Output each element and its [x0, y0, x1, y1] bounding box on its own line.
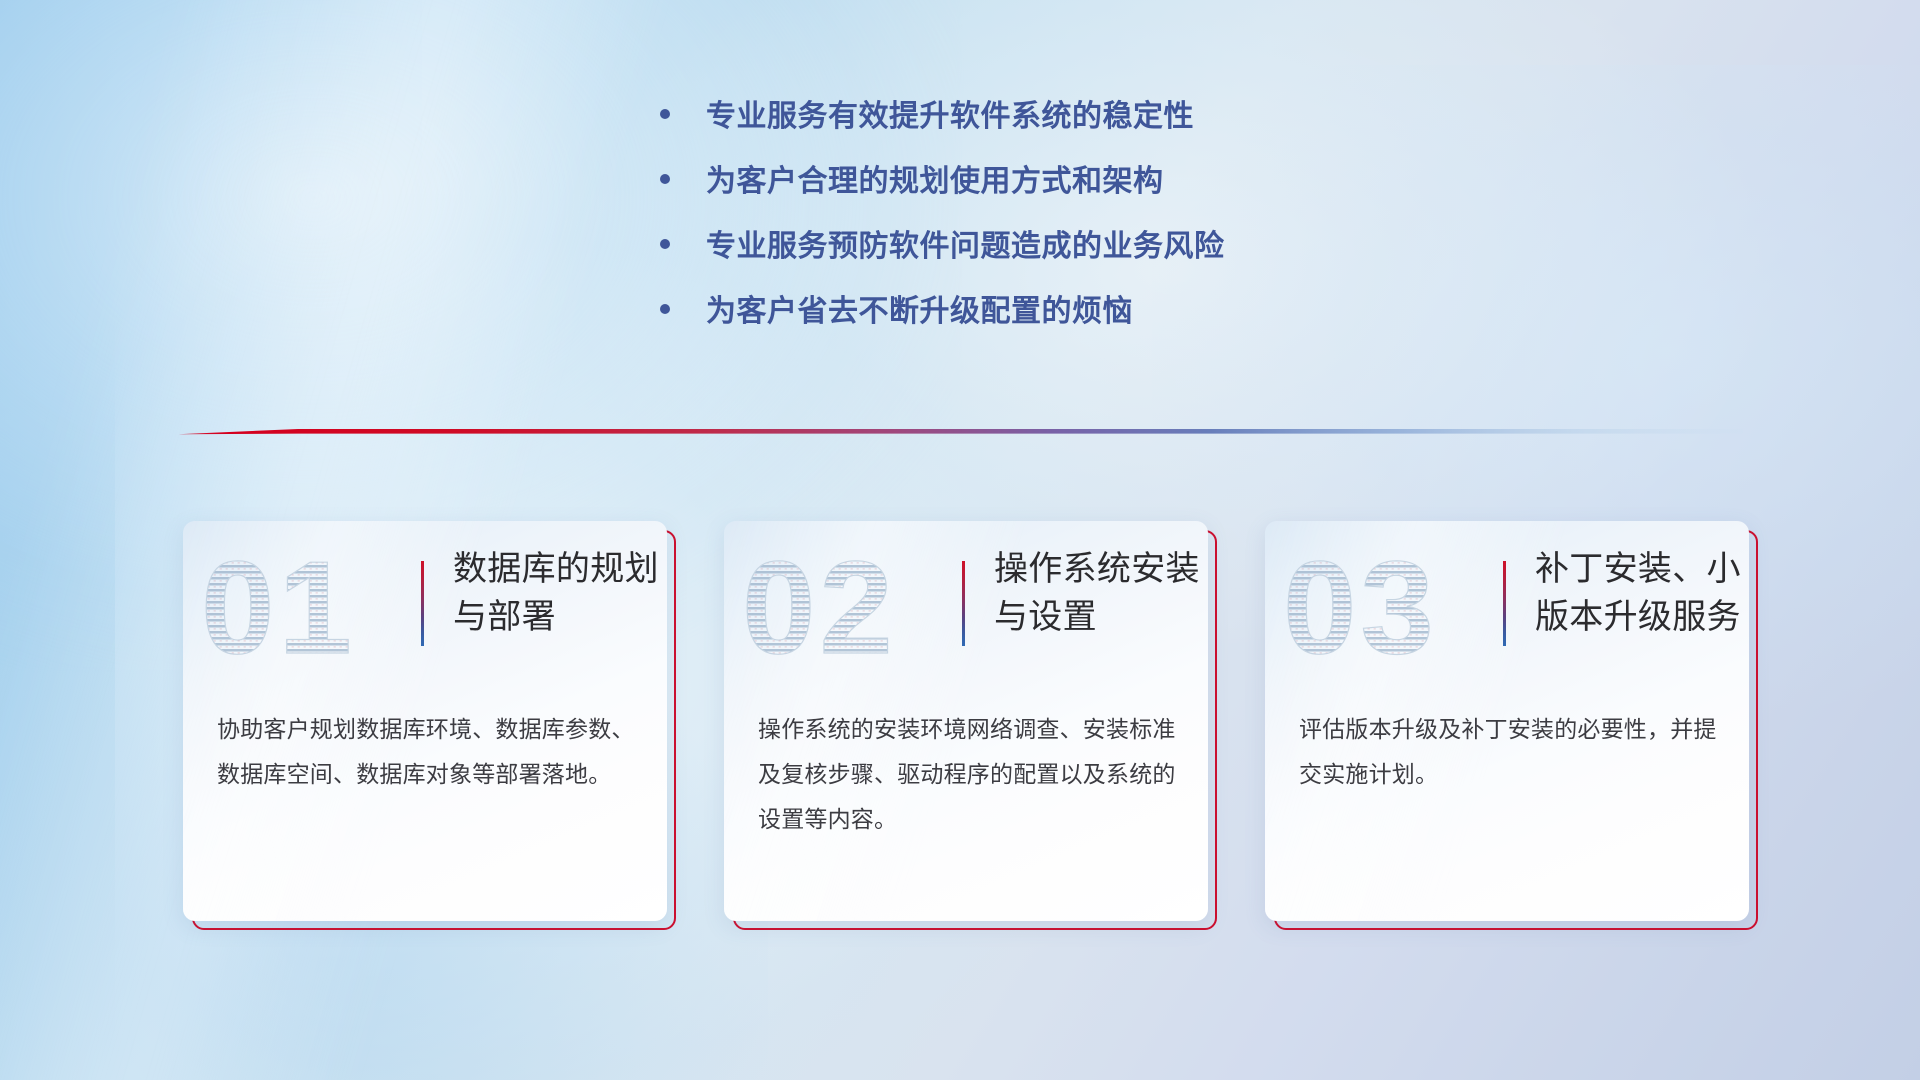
- bullet-dot-icon: [660, 304, 670, 314]
- card-title-line-1: 操作系统安装: [994, 545, 1194, 593]
- benefits-bullet-list: 专业服务有效提升软件系统的稳定性 为客户合理的规划使用方式和架构 专业服务预防软…: [660, 102, 1460, 362]
- card-title-line-2: 与部署: [453, 593, 653, 641]
- card-surface: 01 数据库的规划 与部署 协助客户规划数据库环境、数据库参数、数据库空间、数据…: [183, 521, 667, 921]
- bullet-label: 为客户合理的规划使用方式和架构: [706, 167, 1164, 197]
- bullet-label: 为客户省去不断升级配置的烦恼: [706, 297, 1133, 327]
- service-card-03[interactable]: 03 补丁安装、小 版本升级服务 评估版本升级及补丁安装的必要性，并提交实施计划…: [1265, 521, 1749, 921]
- card-title-line-2: 版本升级服务: [1535, 593, 1735, 641]
- card-surface: 02 操作系统安装 与设置 操作系统的安装环境网络调查、安装标准及复核步骤、驱动…: [724, 521, 1208, 921]
- card-number-graphic: 02: [742, 541, 932, 681]
- bullet-dot-icon: [660, 109, 670, 119]
- list-item: 专业服务有效提升软件系统的稳定性: [660, 102, 1460, 167]
- service-card-grid: 01 数据库的规划 与部署 协助客户规划数据库环境、数据库参数、数据库空间、数据…: [183, 521, 1748, 921]
- svg-text:02: 02: [742, 541, 897, 681]
- service-card-02[interactable]: 02 操作系统安装 与设置 操作系统的安装环境网络调查、安装标准及复核步骤、驱动…: [724, 521, 1208, 921]
- section-divider: [178, 424, 1743, 440]
- card-title: 补丁安装、小 版本升级服务: [1535, 545, 1735, 642]
- card-title-rule: [1503, 561, 1506, 646]
- card-title-line-1: 数据库的规划: [453, 545, 653, 593]
- card-title-rule: [962, 561, 965, 646]
- card-header: 01 数据库的规划 与部署: [183, 521, 667, 696]
- bullet-dot-icon: [660, 239, 670, 249]
- list-item: 为客户合理的规划使用方式和架构: [660, 167, 1460, 232]
- card-number-graphic: 01: [201, 541, 391, 681]
- card-title-rule: [421, 561, 424, 646]
- card-description: 评估版本升级及补丁安装的必要性，并提交实施计划。: [1299, 707, 1717, 797]
- card-number-graphic: 03: [1283, 541, 1473, 681]
- bullet-label: 专业服务有效提升软件系统的稳定性: [706, 102, 1194, 132]
- card-description: 协助客户规划数据库环境、数据库参数、数据库空间、数据库对象等部署落地。: [217, 707, 635, 797]
- bullet-label: 专业服务预防软件问题造成的业务风险: [706, 232, 1225, 262]
- bullet-dot-icon: [660, 174, 670, 184]
- card-title-line-2: 与设置: [994, 593, 1194, 641]
- list-item: 为客户省去不断升级配置的烦恼: [660, 297, 1460, 362]
- svg-text:01: 01: [201, 541, 356, 681]
- card-title: 操作系统安装 与设置: [994, 545, 1194, 642]
- card-title-line-1: 补丁安装、小: [1535, 545, 1735, 593]
- card-header: 03 补丁安装、小 版本升级服务: [1265, 521, 1749, 696]
- card-surface: 03 补丁安装、小 版本升级服务 评估版本升级及补丁安装的必要性，并提交实施计划…: [1265, 521, 1749, 921]
- card-header: 02 操作系统安装 与设置: [724, 521, 1208, 696]
- card-description: 操作系统的安装环境网络调查、安装标准及复核步骤、驱动程序的配置以及系统的设置等内…: [758, 707, 1176, 842]
- card-title: 数据库的规划 与部署: [453, 545, 653, 642]
- svg-text:03: 03: [1283, 541, 1438, 681]
- service-card-01[interactable]: 01 数据库的规划 与部署 协助客户规划数据库环境、数据库参数、数据库空间、数据…: [183, 521, 667, 921]
- list-item: 专业服务预防软件问题造成的业务风险: [660, 232, 1460, 297]
